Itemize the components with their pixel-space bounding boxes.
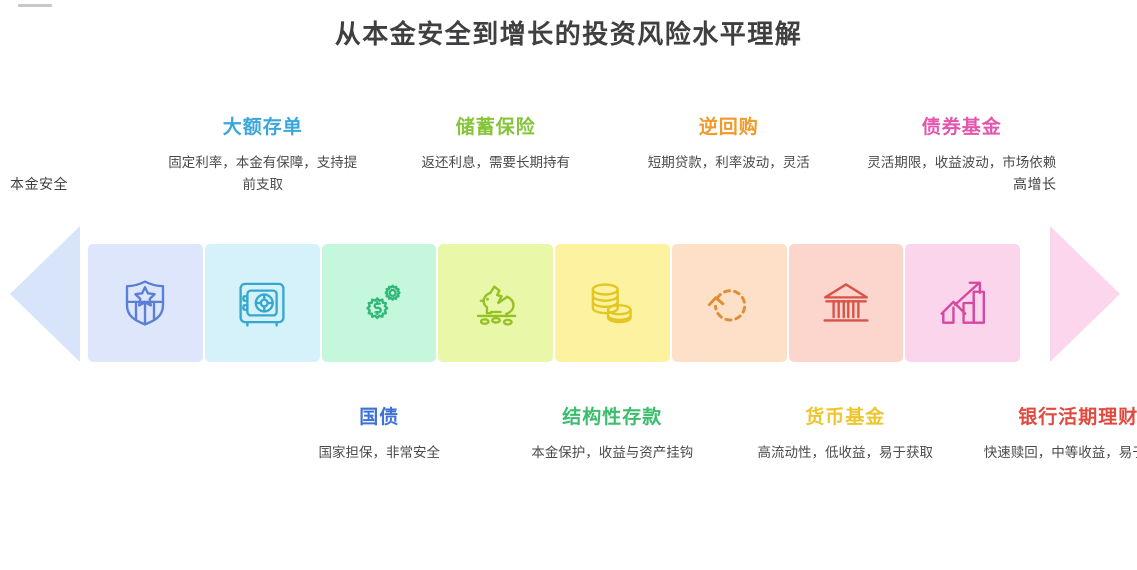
infographic-canvas: 从本金安全到增长的投资风险水平理解 本金安全 高增长 大额存单固定利率，本金有保… (0, 0, 1137, 570)
gears-dollar-icon (352, 276, 406, 330)
bottom-item-3: 货币基金高流动性，低收益，易于获取 (745, 402, 945, 464)
risk-spectrum-strip (88, 244, 1020, 362)
bottom-item-4: 银行活期理财快速赎回，中等收益，易于获取 (978, 402, 1137, 464)
left-arrow-icon (10, 226, 80, 362)
top-item-1: 大额存单固定利率，本金有保障，支持提前支取 (163, 112, 363, 197)
tile-4-broken-piggy-bank[interactable] (438, 244, 553, 362)
tile-2-safe-vault[interactable] (205, 244, 320, 362)
top-item-3: 逆回购短期贷款，利率波动，灵活 (629, 112, 829, 174)
right-arrow-icon (1050, 226, 1120, 362)
bottom-item-1-title[interactable]: 国债 (279, 402, 479, 429)
bottom-item-3-description: 高流动性，低收益，易于获取 (745, 442, 945, 464)
axis-label-left: 本金安全 (10, 174, 68, 194)
bottom-item-1: 国债国家担保，非常安全 (279, 402, 479, 464)
tile-3-gears-dollar[interactable] (322, 244, 437, 362)
top-item-3-description: 短期贷款，利率波动，灵活 (629, 152, 829, 174)
bottom-item-1-description: 国家担保，非常安全 (279, 442, 479, 464)
bottom-item-4-title[interactable]: 银行活期理财 (978, 402, 1137, 429)
bottom-item-2-description: 本金保护，收益与资产挂钩 (512, 442, 712, 464)
top-item-4: 债券基金灵活期限，收益波动，市场依赖 (862, 112, 1062, 174)
top-item-4-description: 灵活期限，收益波动，市场依赖 (862, 152, 1062, 174)
growth-chart-icon (936, 276, 990, 330)
corner-decoration (18, 4, 52, 7)
tile-5-coin-stack[interactable] (555, 244, 670, 362)
top-item-2-title[interactable]: 储蓄保险 (396, 112, 596, 139)
axis-label-right: 高增长 (1013, 174, 1057, 194)
coin-stack-icon (585, 276, 639, 330)
top-item-1-description: 固定利率，本金有保障，支持提前支取 (163, 152, 363, 197)
broken-piggy-bank-icon (469, 276, 523, 330)
top-item-1-title[interactable]: 大额存单 (163, 112, 363, 139)
bottom-item-2: 结构性存款本金保护，收益与资产挂钩 (512, 402, 712, 464)
page-title: 从本金安全到增长的投资风险水平理解 (0, 14, 1137, 51)
top-item-2: 储蓄保险返还利息，需要长期持有 (396, 112, 596, 174)
top-item-2-description: 返还利息，需要长期持有 (396, 152, 596, 174)
tile-6-circular-arrow[interactable] (672, 244, 787, 362)
bottom-item-3-title[interactable]: 货币基金 (745, 402, 945, 429)
bank-building-icon (819, 276, 873, 330)
tile-1-shield-star[interactable] (88, 244, 203, 362)
tile-8-growth-chart[interactable] (905, 244, 1020, 362)
top-item-3-title[interactable]: 逆回购 (629, 112, 829, 139)
shield-star-icon (118, 276, 172, 330)
safe-vault-icon (235, 276, 289, 330)
bottom-item-4-description: 快速赎回，中等收益，易于获取 (978, 442, 1137, 464)
top-item-4-title[interactable]: 债券基金 (862, 112, 1062, 139)
circular-arrow-icon (702, 276, 756, 330)
tile-7-bank-building[interactable] (789, 244, 904, 362)
bottom-item-2-title[interactable]: 结构性存款 (512, 402, 712, 429)
